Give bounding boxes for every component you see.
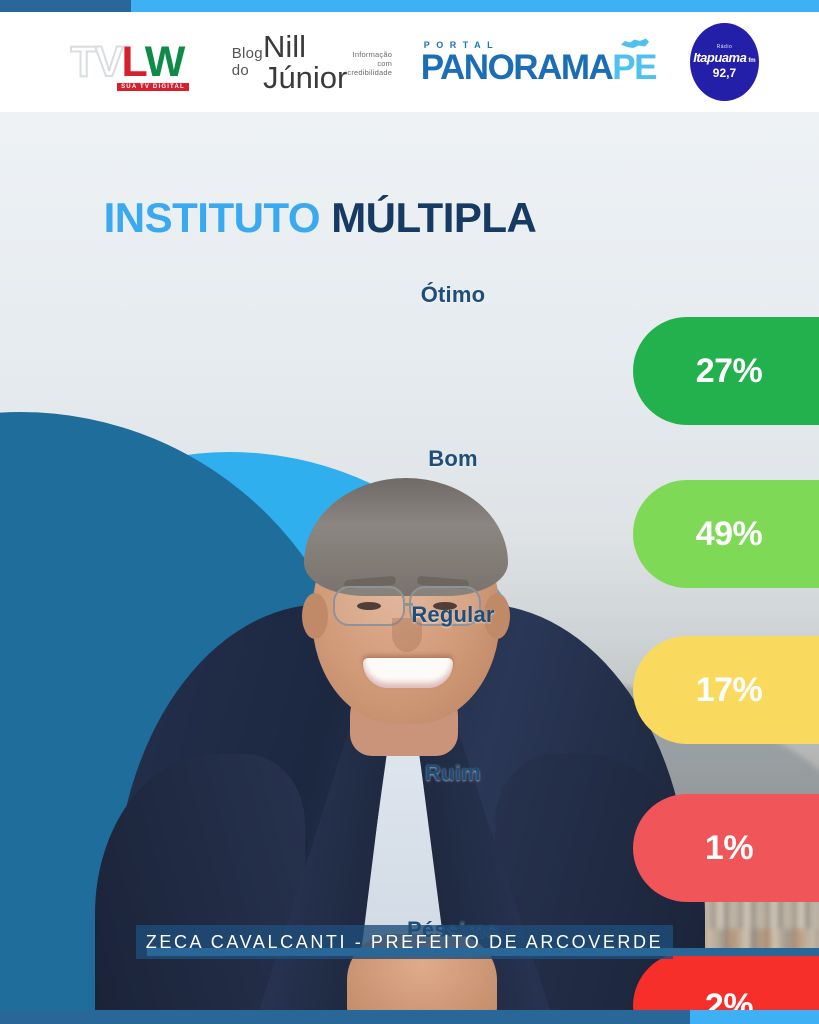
poll-category-label: Ruim xyxy=(103,760,803,786)
poll-category-label: Regular xyxy=(103,602,803,628)
poll-result-bar: 49% xyxy=(633,480,819,588)
radio-logo-fm-text: fm xyxy=(748,58,755,64)
poll-result-value: 17% xyxy=(696,671,763,710)
pernambuco-map-icon xyxy=(620,36,650,52)
radio-logo-main-text: Itapuama xyxy=(693,50,746,65)
tv-lw-logo-w-text: W xyxy=(145,44,183,81)
portrait-smile xyxy=(363,658,453,688)
poll-result-value: 1% xyxy=(705,829,753,868)
candidate-portrait xyxy=(95,234,705,1024)
poll-result-bar: 27% xyxy=(633,317,819,425)
nill-logo-top-text: Blog do xyxy=(232,45,263,79)
radio-logo-frequency-text: 92,7 xyxy=(713,66,736,80)
poll-result-bar: 17% xyxy=(633,636,819,744)
portrait-hair xyxy=(304,478,508,596)
top-accent-dark-segment xyxy=(0,0,131,12)
poll-category-label: Bom xyxy=(103,446,803,472)
partner-logo-strip: TV L W SUA TV DIGITAL Blog do Nill Júnio… xyxy=(0,12,819,112)
radio-itapuama-fm-logo[interactable]: Rádio Itapuama fm 92,7 xyxy=(690,23,759,101)
poster-stage: INSTITUTO MÚLTIPLA xyxy=(0,112,819,1024)
tv-lw-logo-tv-text: TV xyxy=(71,44,122,81)
poll-result-poster: TV L W SUA TV DIGITAL Blog do Nill Júnio… xyxy=(0,0,819,1024)
panorama-logo-pe-text: PE xyxy=(612,48,656,87)
blog-do-nill-junior-logo[interactable]: Blog do Nill Júnior Informação com credi… xyxy=(237,31,387,93)
poll-category-label: Ótimo xyxy=(103,282,803,308)
nill-logo-tagline: Informação com credibilidade xyxy=(347,50,392,77)
top-accent-bar xyxy=(0,0,819,12)
poll-result-value: 49% xyxy=(696,515,763,554)
bottom-accent-light-segment xyxy=(690,1010,819,1024)
bottom-accent-dark-segment xyxy=(0,1010,690,1024)
poll-result-value: 27% xyxy=(696,352,763,391)
tv-lw-logo-l-text: L xyxy=(121,44,144,81)
panorama-logo-main-text: PANORAMA xyxy=(421,48,613,87)
radio-logo-pre-text: Rádio xyxy=(717,44,733,50)
tv-lw-logo[interactable]: TV L W SUA TV DIGITAL xyxy=(60,31,193,93)
poll-results-chart: Ótimo27%Bom49%Regular17%Ruim1%Péssimo2% xyxy=(633,112,819,1024)
top-accent-light-segment xyxy=(131,0,819,12)
bottom-accent-upper-bar xyxy=(147,948,819,956)
portal-panorama-pe-logo[interactable]: PORTAL PANORAMAPE xyxy=(431,40,646,85)
bottom-accent-bar xyxy=(0,1010,819,1024)
poll-result-bar: 1% xyxy=(633,794,819,902)
nill-logo-main-text: Nill Júnior xyxy=(263,31,347,93)
tv-lw-logo-tagline: SUA TV DIGITAL xyxy=(117,83,189,91)
